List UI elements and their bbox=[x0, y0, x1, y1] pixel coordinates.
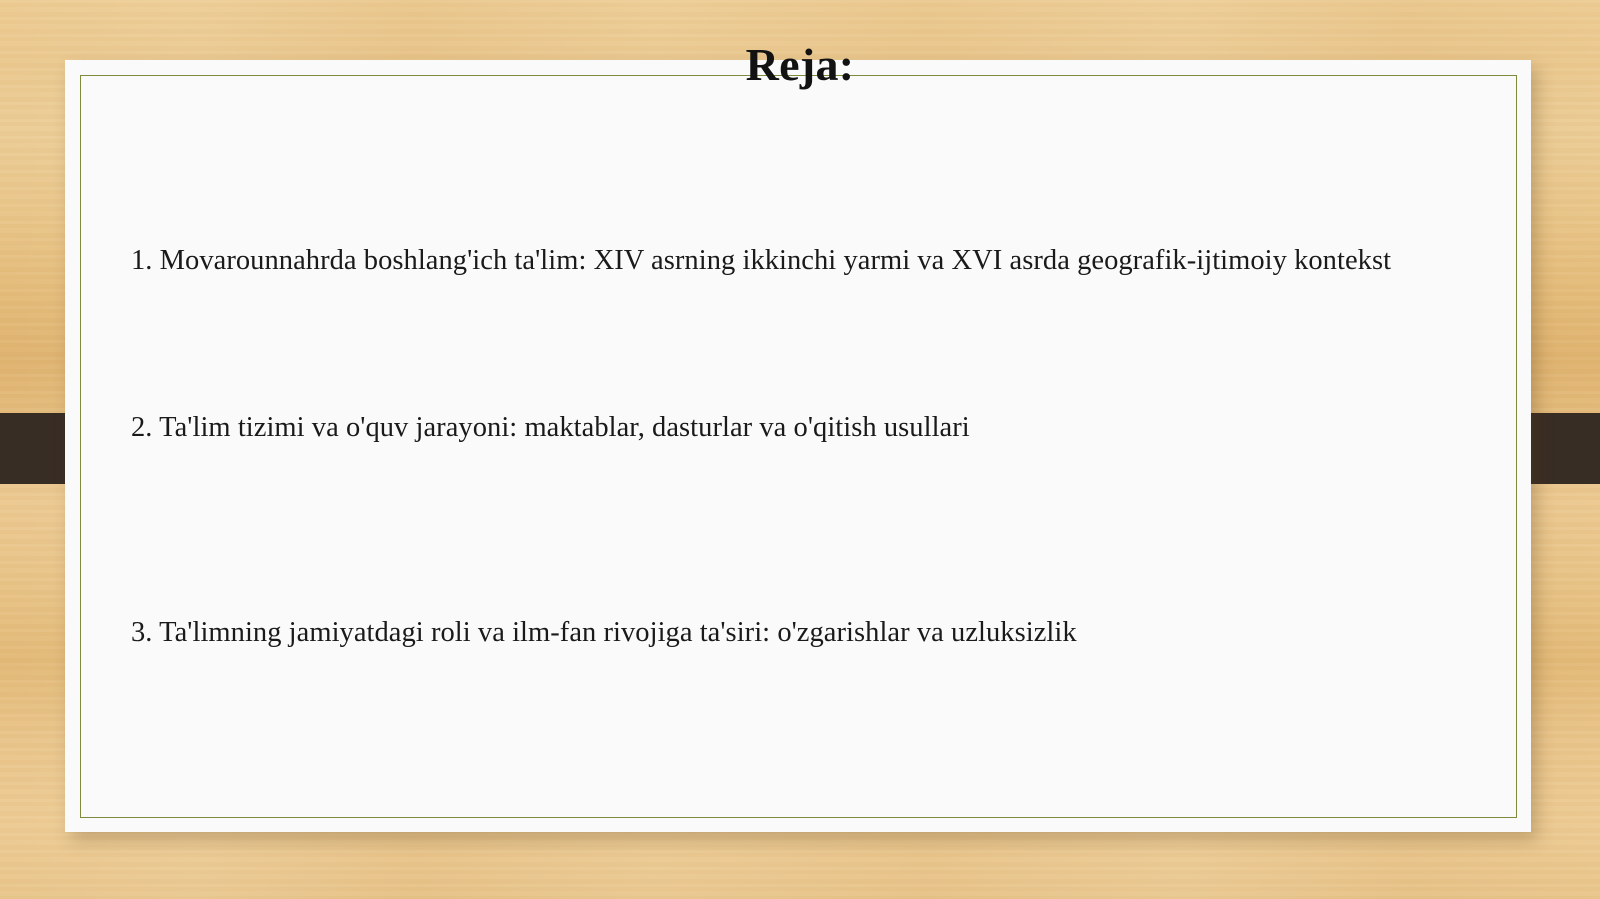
slide-title: Reja: bbox=[0, 41, 1600, 89]
agenda-item-2: 2. Ta'lim tizimi va o'quv jarayoni: makt… bbox=[131, 410, 1419, 446]
agenda-item-3: 3. Ta'limning jamiyatdagi roli va ilm-fa… bbox=[131, 615, 1419, 651]
slide-body: 1. Movarounnahrda boshlang'ich ta'lim: X… bbox=[131, 243, 1419, 651]
presentation-slide: Reja: 1. Movarounnahrda boshlang'ich ta'… bbox=[0, 0, 1600, 899]
agenda-item-1: 1. Movarounnahrda boshlang'ich ta'lim: X… bbox=[131, 243, 1419, 279]
